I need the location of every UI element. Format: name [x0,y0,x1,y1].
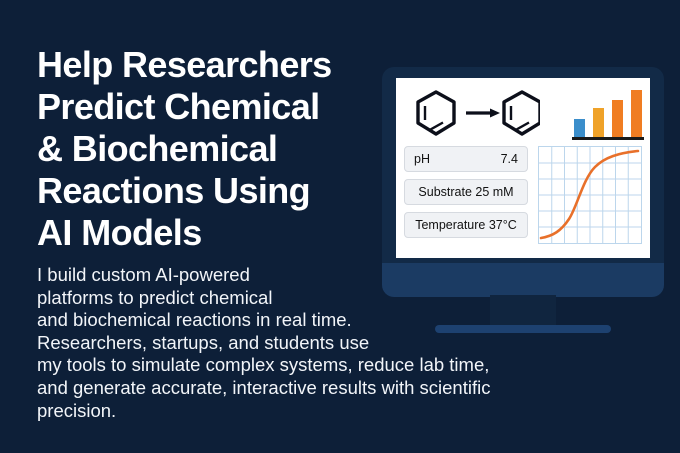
monitor-screen: pH 7.4 Substrate 25 mM Temperature 37°C [396,78,650,258]
headline-line-2: Predict Chemical [37,86,387,128]
parameter-label-ph: pH [414,152,430,166]
promo-banner: Help Researchers Predict Chemical & Bioc… [0,0,680,453]
reaction-arrow-icon [466,108,500,118]
body-line-4: Researchers, startups, and students use [37,332,662,355]
headline-line-4: Reactions Using [37,170,387,212]
headline-line-1: Help Researchers [37,44,387,86]
reaction-scheme [410,86,540,140]
curve-gridlines [539,147,641,243]
benzene-ring-icon [504,92,540,134]
headline-line-3: & Biochemical [37,128,387,170]
bar-3 [612,100,623,137]
curve-chart-svg [539,147,641,243]
body-line-7: precision. [37,400,662,423]
body-line-6: and generate accurate, interactive resul… [37,377,662,400]
body-line-2: platforms to predict chemical [37,287,662,310]
headline-line-5: AI Models [37,212,387,254]
bar-chart-axis [572,137,644,140]
parameter-chip-ph[interactable]: pH 7.4 [404,146,528,172]
parameter-list: pH 7.4 Substrate 25 mM Temperature 37°C [404,146,528,245]
page-title: Help Researchers Predict Chemical & Bioc… [37,44,387,254]
parameter-value-ph: 7.4 [501,152,518,166]
bar-chart [574,88,642,142]
body-line-3: and biochemical reactions in real time. [37,309,662,332]
bar-1 [574,119,585,137]
benzene-ring-icon [418,92,454,134]
parameter-text-substrate: Substrate 25 mM [418,185,513,199]
parameter-chip-substrate[interactable]: Substrate 25 mM [404,179,528,205]
body-description: I build custom AI-powered platforms to p… [37,264,662,422]
parameter-chip-temperature[interactable]: Temperature 37°C [404,212,528,238]
body-line-5: my tools to simulate complex systems, re… [37,354,662,377]
curve-chart [538,146,642,244]
body-line-1: I build custom AI-powered [37,264,662,287]
bar-2 [593,108,604,137]
parameter-text-temperature: Temperature 37°C [415,218,517,232]
bar-4 [631,90,642,137]
bar-chart-bars [574,90,642,137]
